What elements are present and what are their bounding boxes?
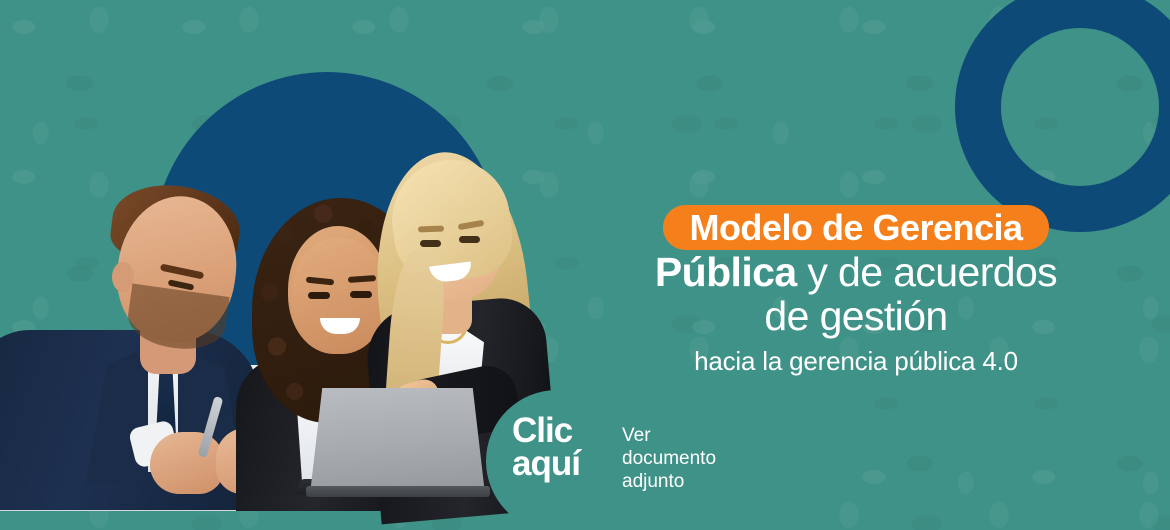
person-man-ear [112,262,134,292]
team-photo [0,0,520,530]
title-line-2: Pública y de acuerdos [566,250,1146,294]
person-woman-right-eyebrow-left [418,226,444,233]
title-line-2-rest: y de acuerdos [797,249,1058,295]
clic-aqui-button[interactable]: Clic aquí [512,414,616,480]
person-woman-center-eye-left [308,292,330,299]
person-woman-right-eye-left [420,240,441,247]
cta-description-line-3: adjunto [622,470,716,493]
cta-description[interactable]: Ver documento adjunto [622,424,716,493]
title-pill: Modelo de Gerencia [663,205,1048,250]
title-line-2-bold: Pública [655,249,797,295]
title-line-3: de gestión [566,294,1146,338]
headline-block: Modelo de Gerencia Pública y de acuerdos… [566,205,1146,377]
subtitle: hacia la gerencia pública 4.0 [566,345,1146,377]
cta-description-line-1: Ver [622,424,716,447]
laptop-lid [310,388,485,494]
laptop-hinge [306,486,490,497]
cta-description-line-2: documento [622,447,716,470]
decorative-ring-shape [955,0,1170,232]
person-woman-right-eye-right [459,236,480,243]
promo-banner: Modelo de Gerencia Pública y de acuerdos… [0,0,1170,530]
person-woman-center-eye-right [350,291,372,298]
person-man-hand-left [150,432,224,494]
